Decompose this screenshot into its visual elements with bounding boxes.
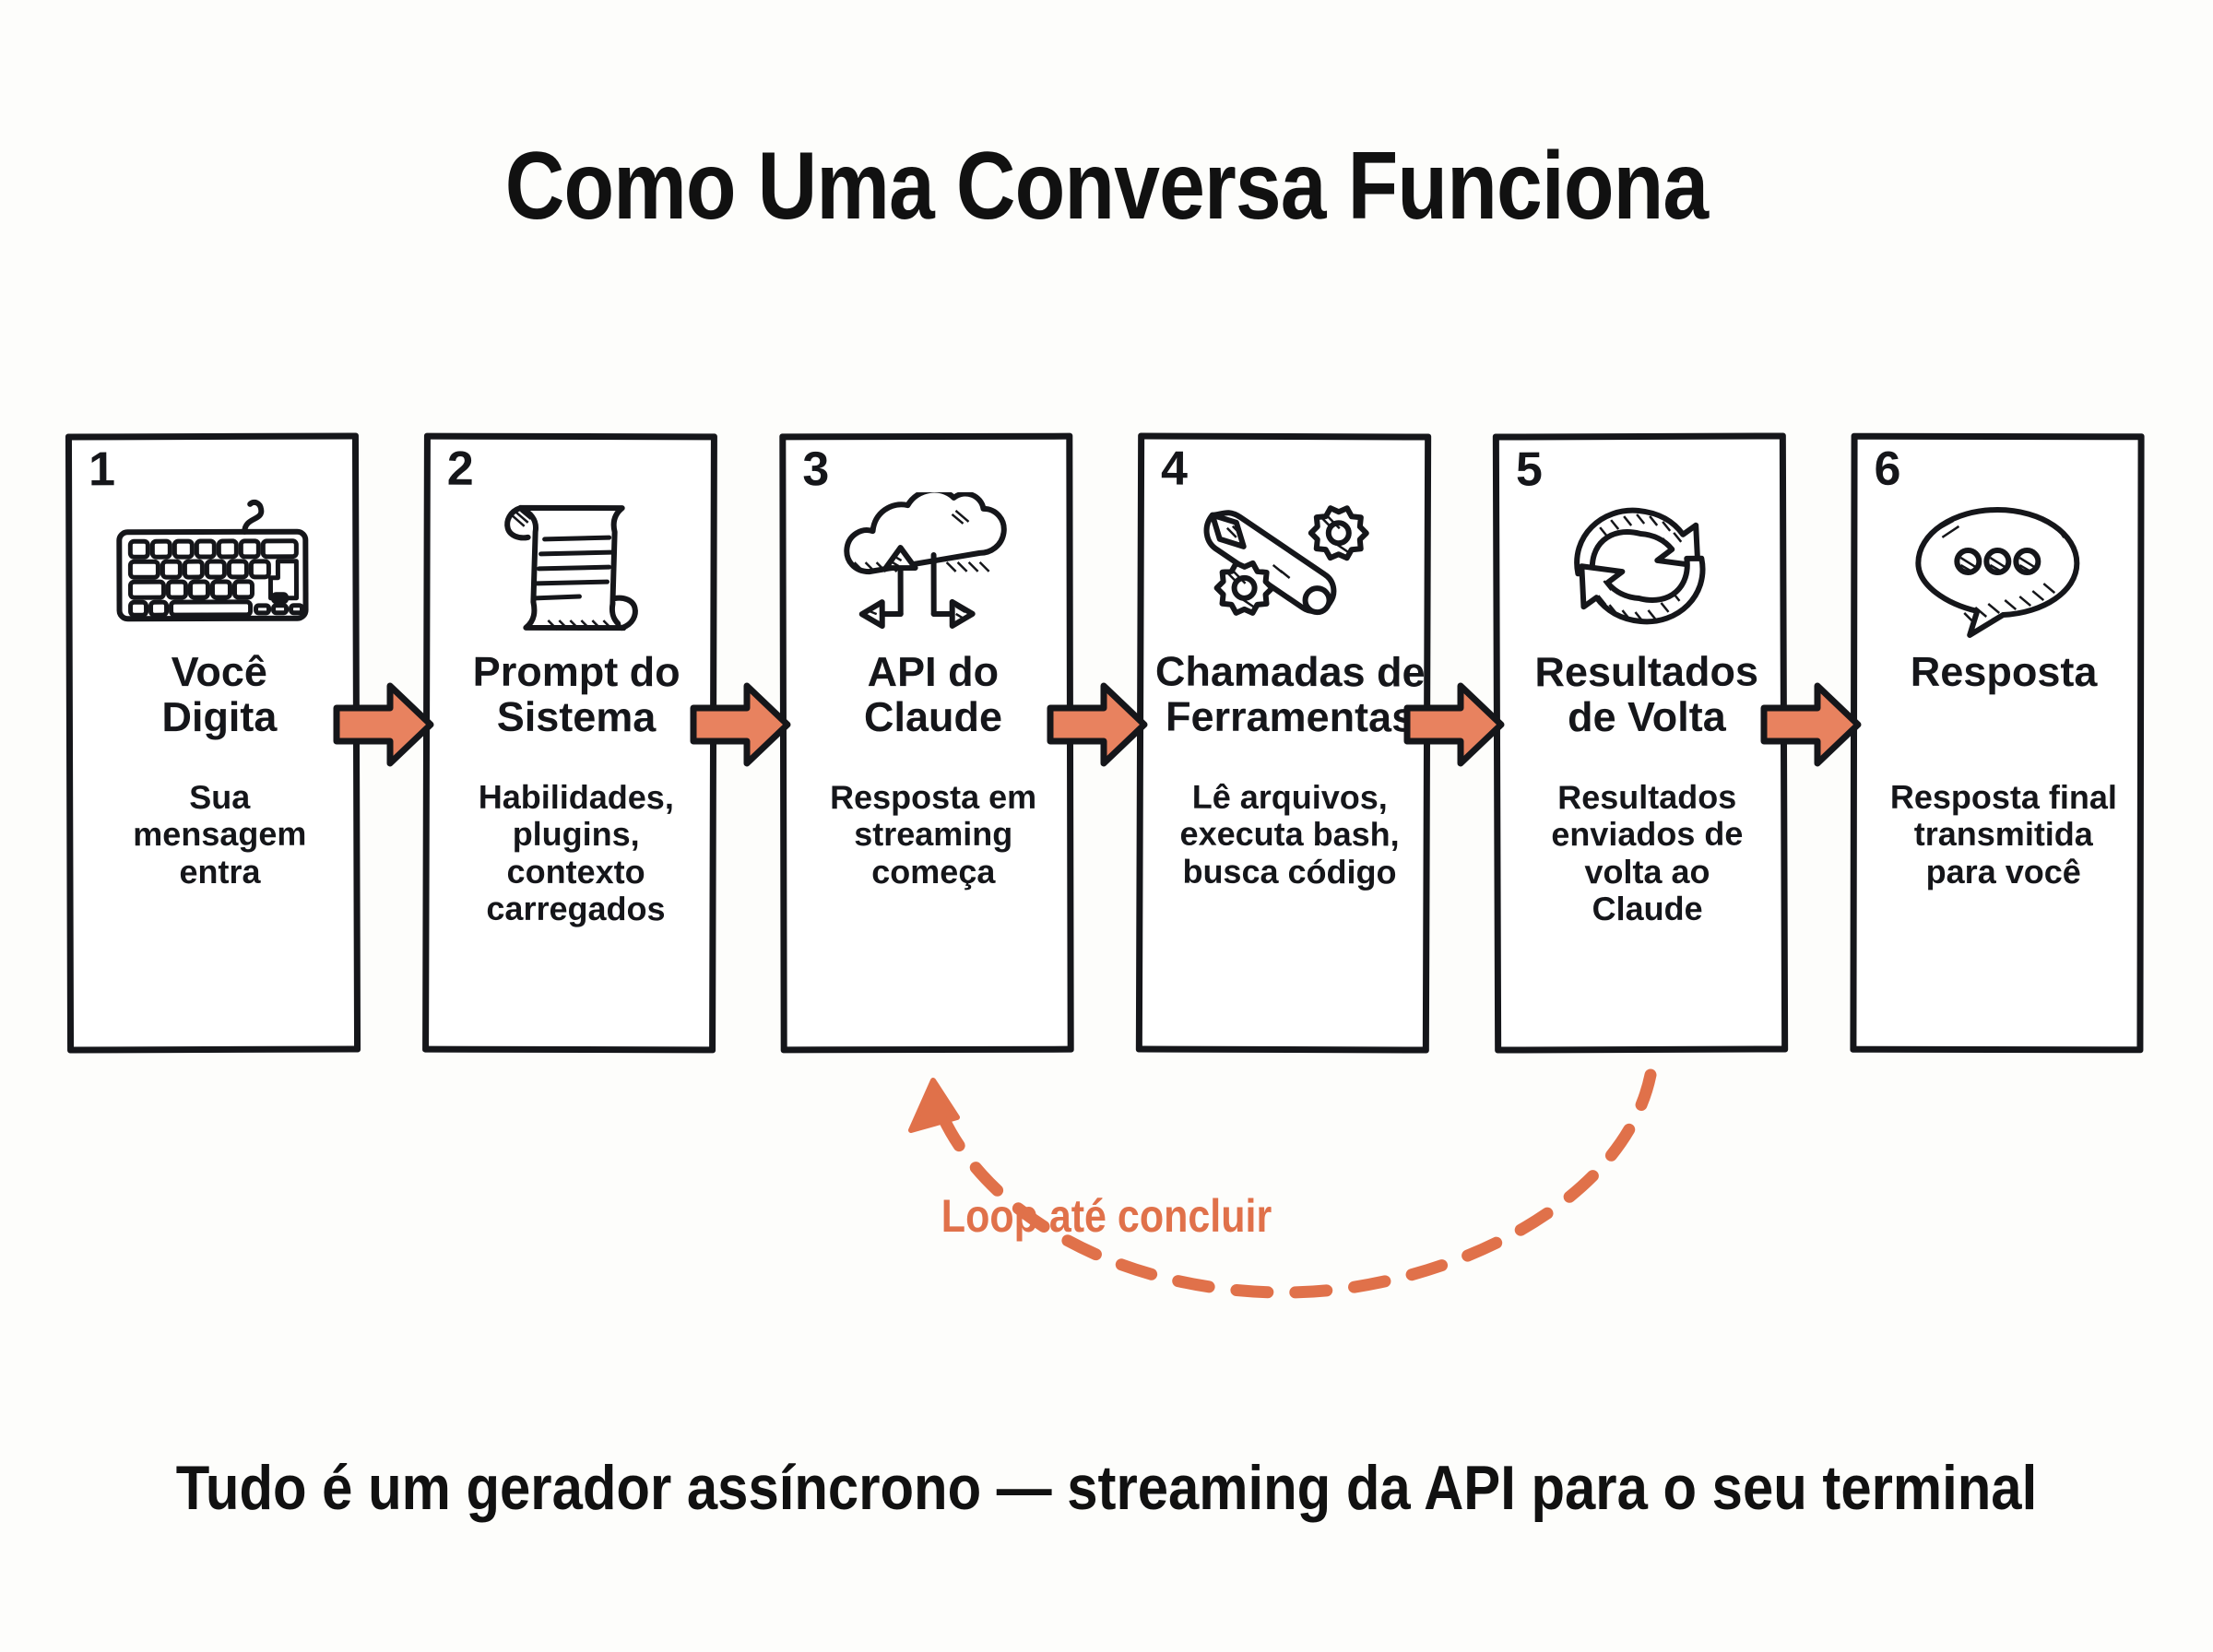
connector-arrow-3-4 xyxy=(1047,682,1148,767)
connector-arrow-1-2 xyxy=(333,682,434,767)
loop-label: Loop até concluir xyxy=(155,1189,2058,1243)
connector-arrow-4-5 xyxy=(1403,682,1505,767)
step-description: Sua mensagem entra xyxy=(82,779,357,891)
step-card-6[interactable]: 6 xyxy=(1850,433,2144,1054)
cloud-arrows-icon xyxy=(786,488,1066,645)
step-card-4[interactable]: 4 xyxy=(1136,432,1431,1053)
step-title: Resposta xyxy=(1833,650,2174,695)
step-number: 4 xyxy=(1161,445,1188,493)
step-description: Habilidades, plugins, contexto carregado… xyxy=(438,779,713,928)
footer-caption: Tudo é um gerador assíncrono — streaming… xyxy=(133,1452,2080,1524)
scroll-document-icon xyxy=(430,488,710,645)
connector-arrow-2-3 xyxy=(690,682,791,767)
speech-bubble-icon xyxy=(1857,488,2137,645)
wrench-gears-icon xyxy=(1143,487,1425,644)
step-description: Resposta final transmitida para você xyxy=(1866,779,2141,891)
process-flow: 1 xyxy=(0,433,2213,1060)
refresh-cycle-icon xyxy=(1499,487,1781,644)
step-description: Resposta em streaming começa xyxy=(796,779,1071,891)
step-card-2[interactable]: 2 xyxy=(422,433,717,1054)
step-number: 1 xyxy=(89,445,115,493)
step-card-3[interactable]: 3 xyxy=(779,433,1073,1054)
connector-arrow-5-6 xyxy=(1760,682,1862,767)
step-card-5[interactable]: 5 xyxy=(1493,432,1788,1053)
step-description: Lê arquivos, executa bash, busca código xyxy=(1152,779,1426,891)
step-number: 3 xyxy=(802,445,829,493)
step-card-1[interactable]: 1 xyxy=(65,433,361,1054)
step-number: 5 xyxy=(1516,445,1543,493)
step-description: Resultados enviados de volta ao Claude xyxy=(1509,778,1785,927)
keyboard-icon xyxy=(72,488,353,645)
page-title: Como Uma Conversa Funciona xyxy=(155,136,2058,237)
step-number: 2 xyxy=(447,445,474,493)
step-number: 6 xyxy=(1874,445,1900,493)
